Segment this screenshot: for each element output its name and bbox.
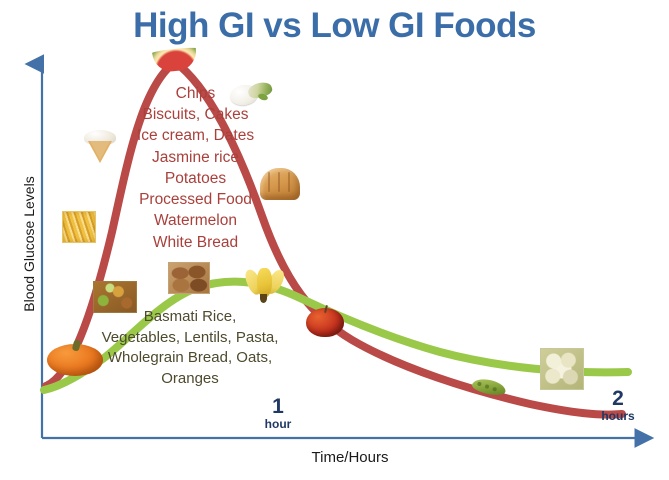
high-gi-food-item: Watermelon <box>108 210 283 231</box>
high-gi-food-item: White Bread <box>108 232 283 253</box>
y-axis-label: Blood Glucose Levels <box>21 149 37 339</box>
x-tick-1-unit: hour <box>248 418 308 431</box>
high-gi-food-item: Processed Food <box>108 189 283 210</box>
x-axis-label: Time/Hours <box>250 449 450 466</box>
banana-tip <box>260 294 267 303</box>
x-tick-2-unit: hours <box>588 410 648 423</box>
x-tick-2-hours: 2 hours <box>588 388 648 423</box>
x-tick-1-hour: 1 hour <box>248 396 308 431</box>
sushi-roll-icon <box>228 82 274 108</box>
plot-area <box>0 0 669 480</box>
french-fries-icon <box>62 211 96 243</box>
cauliflower-icon <box>540 348 584 390</box>
pumpkin-icon <box>47 340 103 376</box>
x-tick-1-number: 1 <box>248 396 308 418</box>
high-gi-food-list: Chips Biscuits, Cakes Ice cream, Dates J… <box>108 83 283 253</box>
low-gi-food-item: Oranges <box>75 369 305 390</box>
chart-canvas: High GI vs Low GI Foods Blood Glucose Le… <box>0 0 669 480</box>
ice-cream-cone-icon <box>83 130 117 164</box>
apple-icon <box>306 305 344 337</box>
nuts-icon <box>168 262 210 294</box>
banana-icon <box>246 267 284 303</box>
bread-loaf-icon <box>260 168 300 200</box>
x-tick-2-number: 2 <box>588 388 648 410</box>
high-gi-food-item: Ice cream, Dates <box>108 125 283 146</box>
high-gi-food-item: Jasmine rice <box>108 147 283 168</box>
high-gi-food-item: Potatoes <box>108 168 283 189</box>
ice-cream-cone-inner <box>90 141 110 160</box>
vegetable-mix-icon <box>93 281 137 313</box>
low-gi-food-item: Vegetables, Lentils, Pasta, <box>75 328 305 349</box>
low-gi-food-list: Basmati Rice, Vegetables, Lentils, Pasta… <box>75 307 305 389</box>
low-gi-food-item: Wholegrain Bread, Oats, <box>75 348 305 369</box>
